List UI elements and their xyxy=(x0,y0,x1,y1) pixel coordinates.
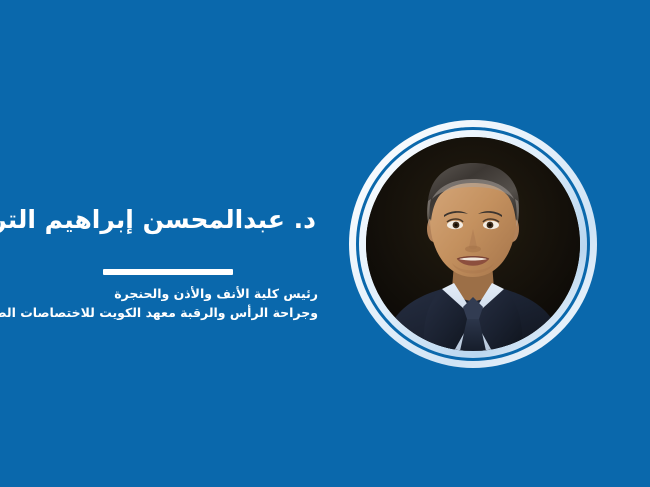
speaker-role-block: رئيس كلية الأنف والأذن والحنجرة وجراحة ا… xyxy=(0,284,322,323)
speaker-slide: د. عبدالمحسن إبراهيم التركي رئيس كلية ال… xyxy=(0,0,650,487)
portrait-photo xyxy=(366,137,580,351)
speaker-portrait xyxy=(349,120,597,368)
speaker-role-line-2: وجراحة الرأس والرقبة معهد الكويت للاختصا… xyxy=(0,303,322,322)
divider-wrapper xyxy=(0,260,320,279)
speaker-text-block: د. عبدالمحسن إبراهيم التركي xyxy=(0,204,320,235)
speaker-role-line-1: رئيس كلية الأنف والأذن والحنجرة xyxy=(0,284,322,303)
portrait-photo-illustration xyxy=(366,137,580,351)
speaker-name: د. عبدالمحسن إبراهيم التركي xyxy=(0,204,320,235)
divider-bar xyxy=(103,269,233,275)
